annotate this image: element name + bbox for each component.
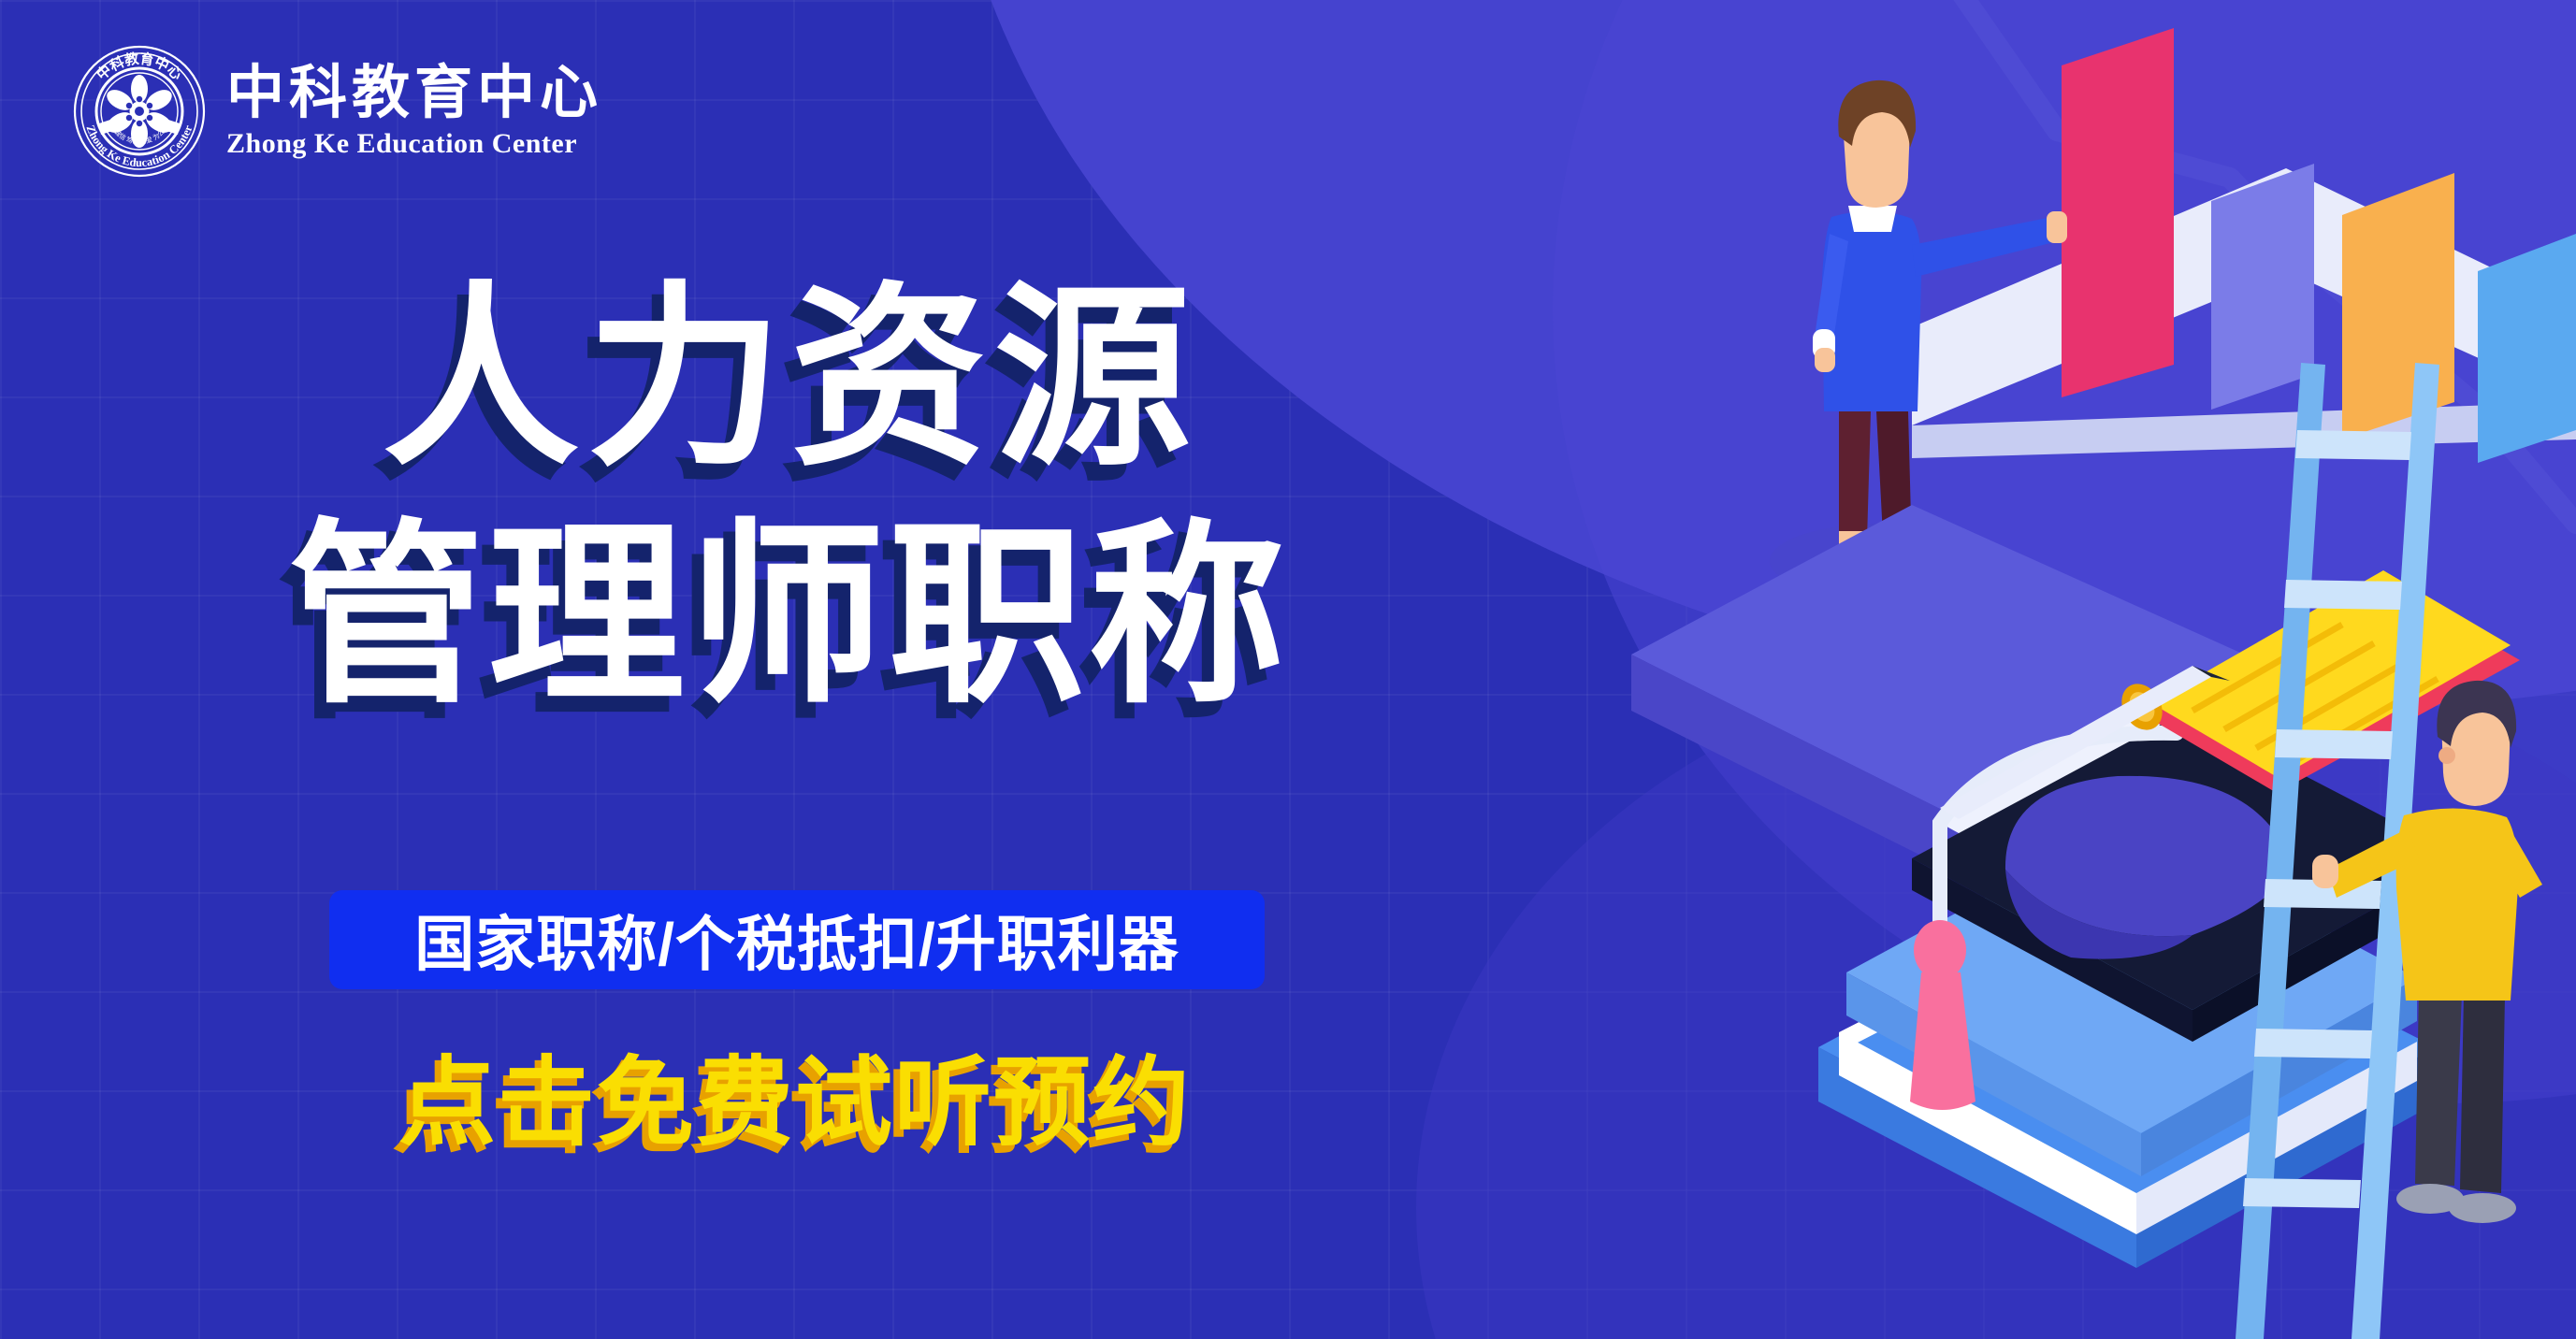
brand-logo[interactable]: 中科教育中心 Zhong Ke Education Center 诚信 笃行 博…	[73, 45, 602, 178]
headline-block: 人力资源 管理师职称	[0, 281, 1590, 714]
brand-name-cn: 中科教育中心	[226, 63, 602, 125]
headline-line-2: 管理师职称	[0, 518, 1590, 714]
subtitle-text: 国家职称/个税抵扣/升职利器	[414, 897, 1179, 983]
brand-name-en: Zhong Ke Education Center	[226, 128, 602, 160]
brand-name-block: 中科教育中心 Zhong Ke Education Center	[226, 63, 602, 161]
cta-block[interactable]: 点击免费试听预约	[0, 1055, 1590, 1152]
subtitle-pill: 国家职称/个税抵扣/升职利器	[329, 890, 1265, 989]
headline-line-1: 人力资源	[0, 281, 1590, 477]
promo-banner: 中科教育中心 Zhong Ke Education Center 诚信 笃行 博…	[0, 0, 2576, 1339]
seal-emblem-icon: 中科教育中心 Zhong Ke Education Center 诚信 笃行 博…	[73, 45, 206, 178]
background-corner-shape	[1416, 647, 2576, 1339]
cta-text[interactable]: 点击免费试听预约	[398, 1055, 1192, 1152]
